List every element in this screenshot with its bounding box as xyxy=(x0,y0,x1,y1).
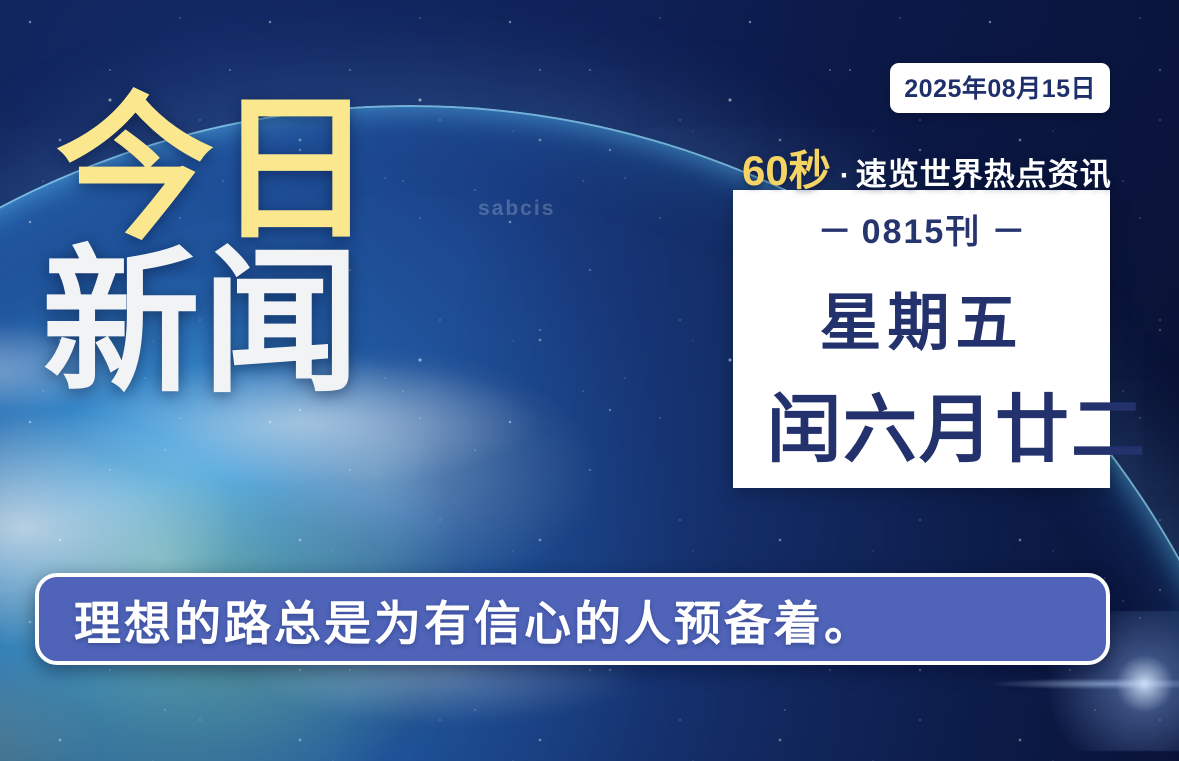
title-line-today: 今日 xyxy=(56,96,376,245)
tagline-seconds: 60秒 xyxy=(742,137,831,198)
title-line-news: 新闻 xyxy=(42,249,376,398)
issue-dash-right: － xyxy=(981,213,1035,251)
weekday-label: 星期五 xyxy=(733,272,1110,362)
tagline: 60秒 · 速览世界热点资讯 xyxy=(742,137,1112,198)
news-poster: sabcis 今日 新闻 2025年08月15日 60秒 · 速览世界热点资讯 … xyxy=(0,0,1179,761)
lunar-date-label: 闰六月廿二 xyxy=(733,370,1110,477)
tagline-description: 速览世界热点资讯 xyxy=(856,149,1112,194)
issue-number: 0815刊 xyxy=(862,213,982,251)
issue-dash-left: － xyxy=(808,213,862,251)
tagline-separator: · xyxy=(840,159,850,193)
page-title: 今日 新闻 xyxy=(56,96,376,397)
issue-card-inner: －0815刊－ 星期五 闰六月廿二 xyxy=(733,190,1110,488)
date-badge: 2025年08月15日 xyxy=(890,63,1110,113)
issue-number-row: －0815刊－ xyxy=(733,204,1110,253)
quote-bar: 理想的路总是为有信心的人预备着。 xyxy=(35,573,1110,665)
quote-text: 理想的路总是为有信心的人预备着。 xyxy=(39,585,874,654)
issue-card: －0815刊－ 星期五 闰六月廿二 xyxy=(733,190,1110,488)
